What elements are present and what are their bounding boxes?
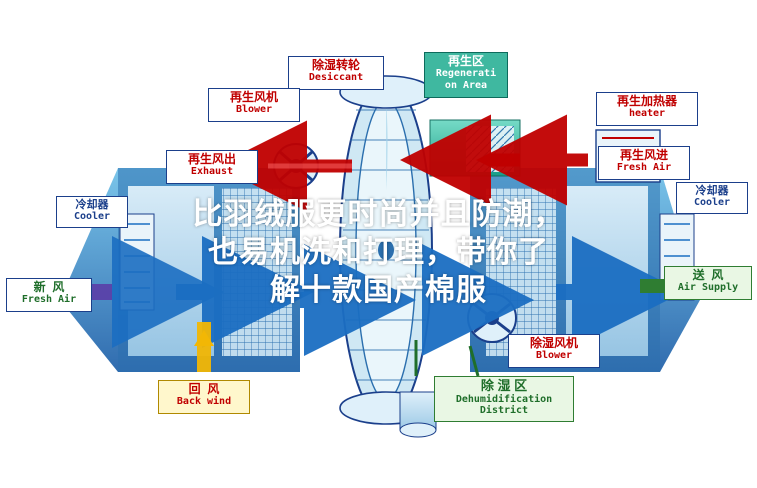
label-desiccant-rotor-en: Desiccant — [291, 72, 381, 83]
label-desiccant-rotor: 除湿转轮Desiccant — [288, 56, 384, 90]
label-regeneration-area-cn: 再生区 — [427, 55, 505, 68]
arrow-process-air — [300, 292, 620, 300]
label-air-supply: 送 风Air Supply — [664, 266, 752, 300]
label-cooler-left-cn: 冷却器 — [59, 199, 125, 211]
desiccant-rotor-shape — [340, 76, 432, 424]
label-regeneration-blower-cn: 再生风机 — [211, 91, 297, 104]
label-cooler-left-en: Cooler — [59, 211, 125, 222]
regeneration-area-shape — [430, 120, 520, 176]
label-regeneration-area-en: Regenerati on Area — [427, 68, 505, 90]
label-cooler-right: 冷却器Cooler — [676, 182, 748, 214]
label-air-supply-en: Air Supply — [667, 282, 749, 293]
label-back-wind-cn: 回 风 — [161, 383, 247, 396]
label-dehumidification-blower-cn: 除湿风机 — [511, 337, 597, 350]
label-dehumidification-district-en: Dehumidification District — [437, 394, 571, 416]
label-dehumidification-district: 除 湿 区Dehumidification District — [434, 376, 574, 422]
label-regeneration-fresh-air-en: Fresh Air — [601, 162, 687, 173]
label-regeneration-exhaust: 再生风出Exhaust — [166, 150, 258, 184]
label-regeneration-fresh-air-cn: 再生风进 — [601, 149, 687, 162]
arrow-back-wind — [194, 322, 214, 372]
label-cooler-left: 冷却器Cooler — [56, 196, 128, 228]
label-regeneration-heater: 再生加热器heater — [596, 92, 698, 126]
label-dehumidification-district-cn: 除 湿 区 — [437, 379, 571, 394]
label-back-wind: 回 风Back wind — [158, 380, 250, 414]
label-fresh-air-cn: 新 风 — [9, 281, 89, 294]
label-regeneration-area: 再生区Regenerati on Area — [424, 52, 508, 98]
label-cooler-right-cn: 冷却器 — [679, 185, 745, 197]
label-regeneration-blower-en: Blower — [211, 104, 297, 115]
label-regeneration-exhaust-cn: 再生风出 — [169, 153, 255, 166]
diagram-canvas: 除湿转轮Desiccant再生区Regenerati on Area再生风机Bl… — [0, 0, 757, 488]
label-regeneration-exhaust-en: Exhaust — [169, 166, 255, 177]
label-dehumidification-blower-en: Blower — [511, 350, 597, 361]
label-regeneration-fresh-air: 再生风进Fresh Air — [598, 146, 690, 180]
label-dehumidification-blower: 除湿风机Blower — [508, 334, 600, 368]
label-desiccant-rotor-cn: 除湿转轮 — [291, 59, 381, 72]
label-cooler-right-en: Cooler — [679, 197, 745, 208]
label-regeneration-blower: 再生风机Blower — [208, 88, 300, 122]
label-back-wind-en: Back wind — [161, 396, 247, 407]
label-fresh-air: 新 风Fresh Air — [6, 278, 92, 312]
label-regeneration-heater-en: heater — [599, 108, 695, 119]
label-air-supply-cn: 送 风 — [667, 269, 749, 282]
label-regeneration-heater-cn: 再生加热器 — [599, 95, 695, 108]
label-fresh-air-en: Fresh Air — [9, 294, 89, 305]
bottom-duct — [400, 392, 436, 437]
